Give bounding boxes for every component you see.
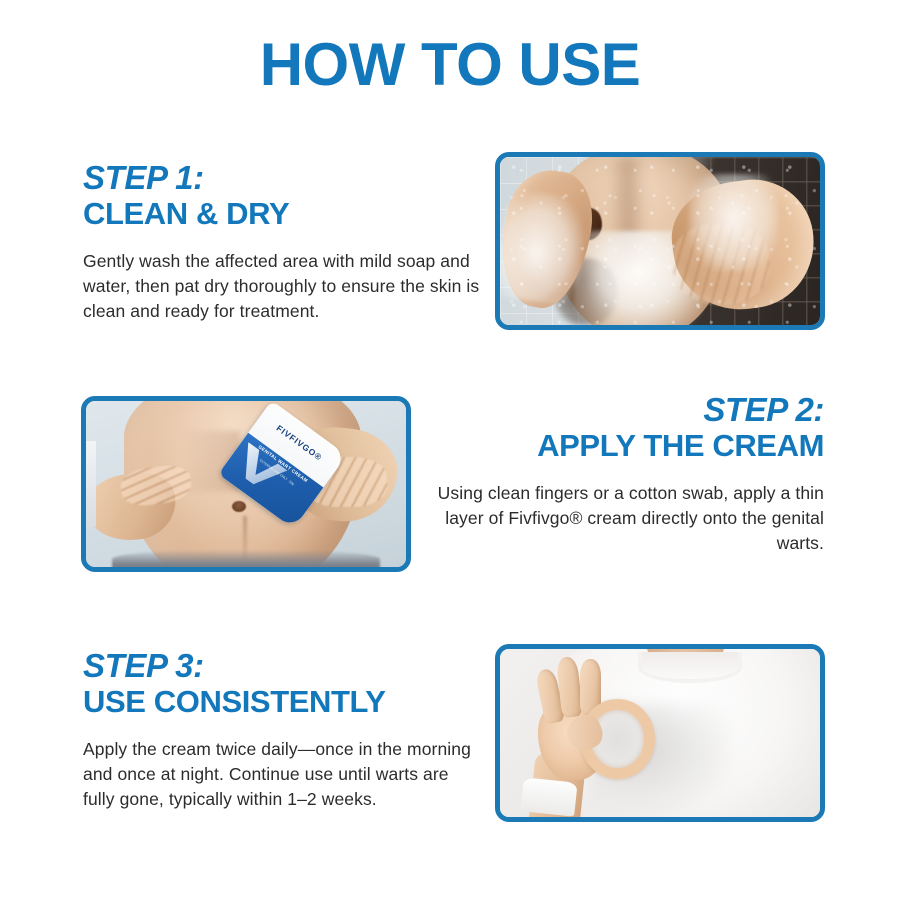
step-3-body: Apply the cream twice daily—once in the … [83, 737, 483, 812]
foam-bubbles [500, 157, 820, 325]
waistband [112, 550, 381, 567]
step-2-label: STEP 2: [420, 392, 824, 428]
tshirt-collar [638, 652, 742, 683]
page-title: HOW TO USE [0, 34, 900, 96]
sleeve-cuff [521, 777, 579, 816]
step-3-photo-illustration [500, 649, 820, 817]
step-1-photo-illustration [500, 157, 820, 325]
step-3-photo [495, 644, 825, 822]
how-to-use-infographic: HOW TO USE STEP 1: CLEAN & DRY Gently wa… [0, 0, 900, 900]
step-1-label: STEP 1: [83, 160, 483, 196]
step-1-body: Gently wash the affected area with mild … [83, 249, 483, 324]
step-3-title: USE CONSISTENTLY [83, 684, 483, 720]
step-2-block: STEP 2: APPLY THE CREAM Using clean fing… [420, 392, 824, 556]
step-1-title: CLEAN & DRY [83, 196, 483, 232]
step-3-label: STEP 3: [83, 648, 483, 684]
step-1-photo [495, 152, 825, 330]
step-3-block: STEP 3: USE CONSISTENTLY Apply the cream… [83, 648, 483, 812]
step-2-photo-illustration: FIVFIVGO® GENITAL WART CREAM EXTERNAL US… [86, 401, 406, 567]
navel [232, 501, 246, 512]
step-2-body: Using clean fingers or a cotton swab, ap… [420, 481, 824, 556]
step-1-block: STEP 1: CLEAN & DRY Gently wash the affe… [83, 160, 483, 324]
cream-tube-cap [86, 441, 96, 527]
step-2-title: APPLY THE CREAM [420, 428, 824, 464]
step-2-photo: FIVFIVGO® GENITAL WART CREAM EXTERNAL US… [81, 396, 411, 572]
